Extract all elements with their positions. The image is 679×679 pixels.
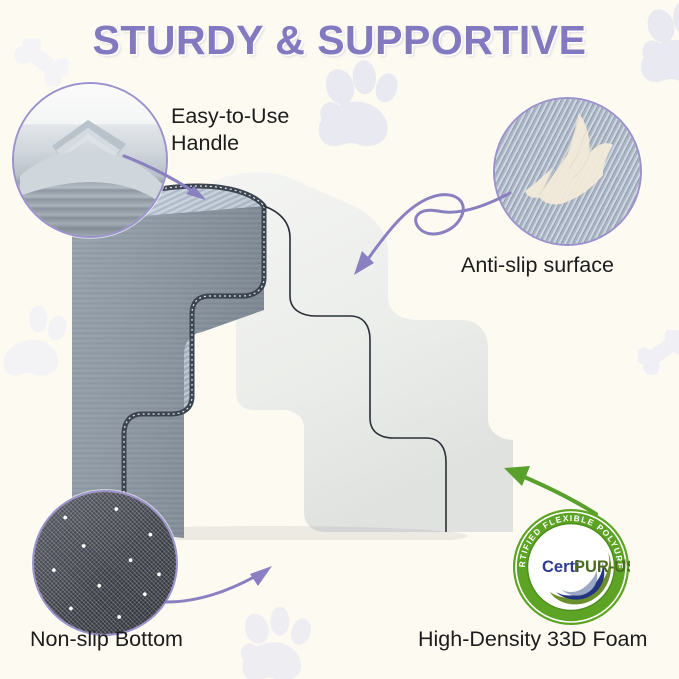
page-title: STURDY & SUPPORTIVE [0,17,679,64]
inset-non-slip-bottom-photo [32,490,178,636]
arrow-anti-slip [280,175,520,305]
label-easy-to-use-handle: Easy-to-Use Handle [171,103,289,157]
non-slip-bottom-photo [34,492,176,634]
arrow-handle [120,150,230,210]
paw-watermark-top-center [305,55,411,161]
arrow-non-slip-bottom [160,560,300,620]
bone-watermark-right [638,330,679,386]
badge-registered-mark: ® [622,559,627,566]
label-high-density-foam: High-Density 33D Foam [418,626,647,653]
infographic-canvas: STURDY & SUPPORTIVE [0,0,679,679]
label-non-slip-bottom: Non-slip Bottom [30,626,183,653]
certipur-us-badge: CONTAINS CERTIFIED FLEXIBLE POLYURETHANE… [512,508,630,626]
label-anti-slip-surface: Anti-slip surface [461,252,614,279]
